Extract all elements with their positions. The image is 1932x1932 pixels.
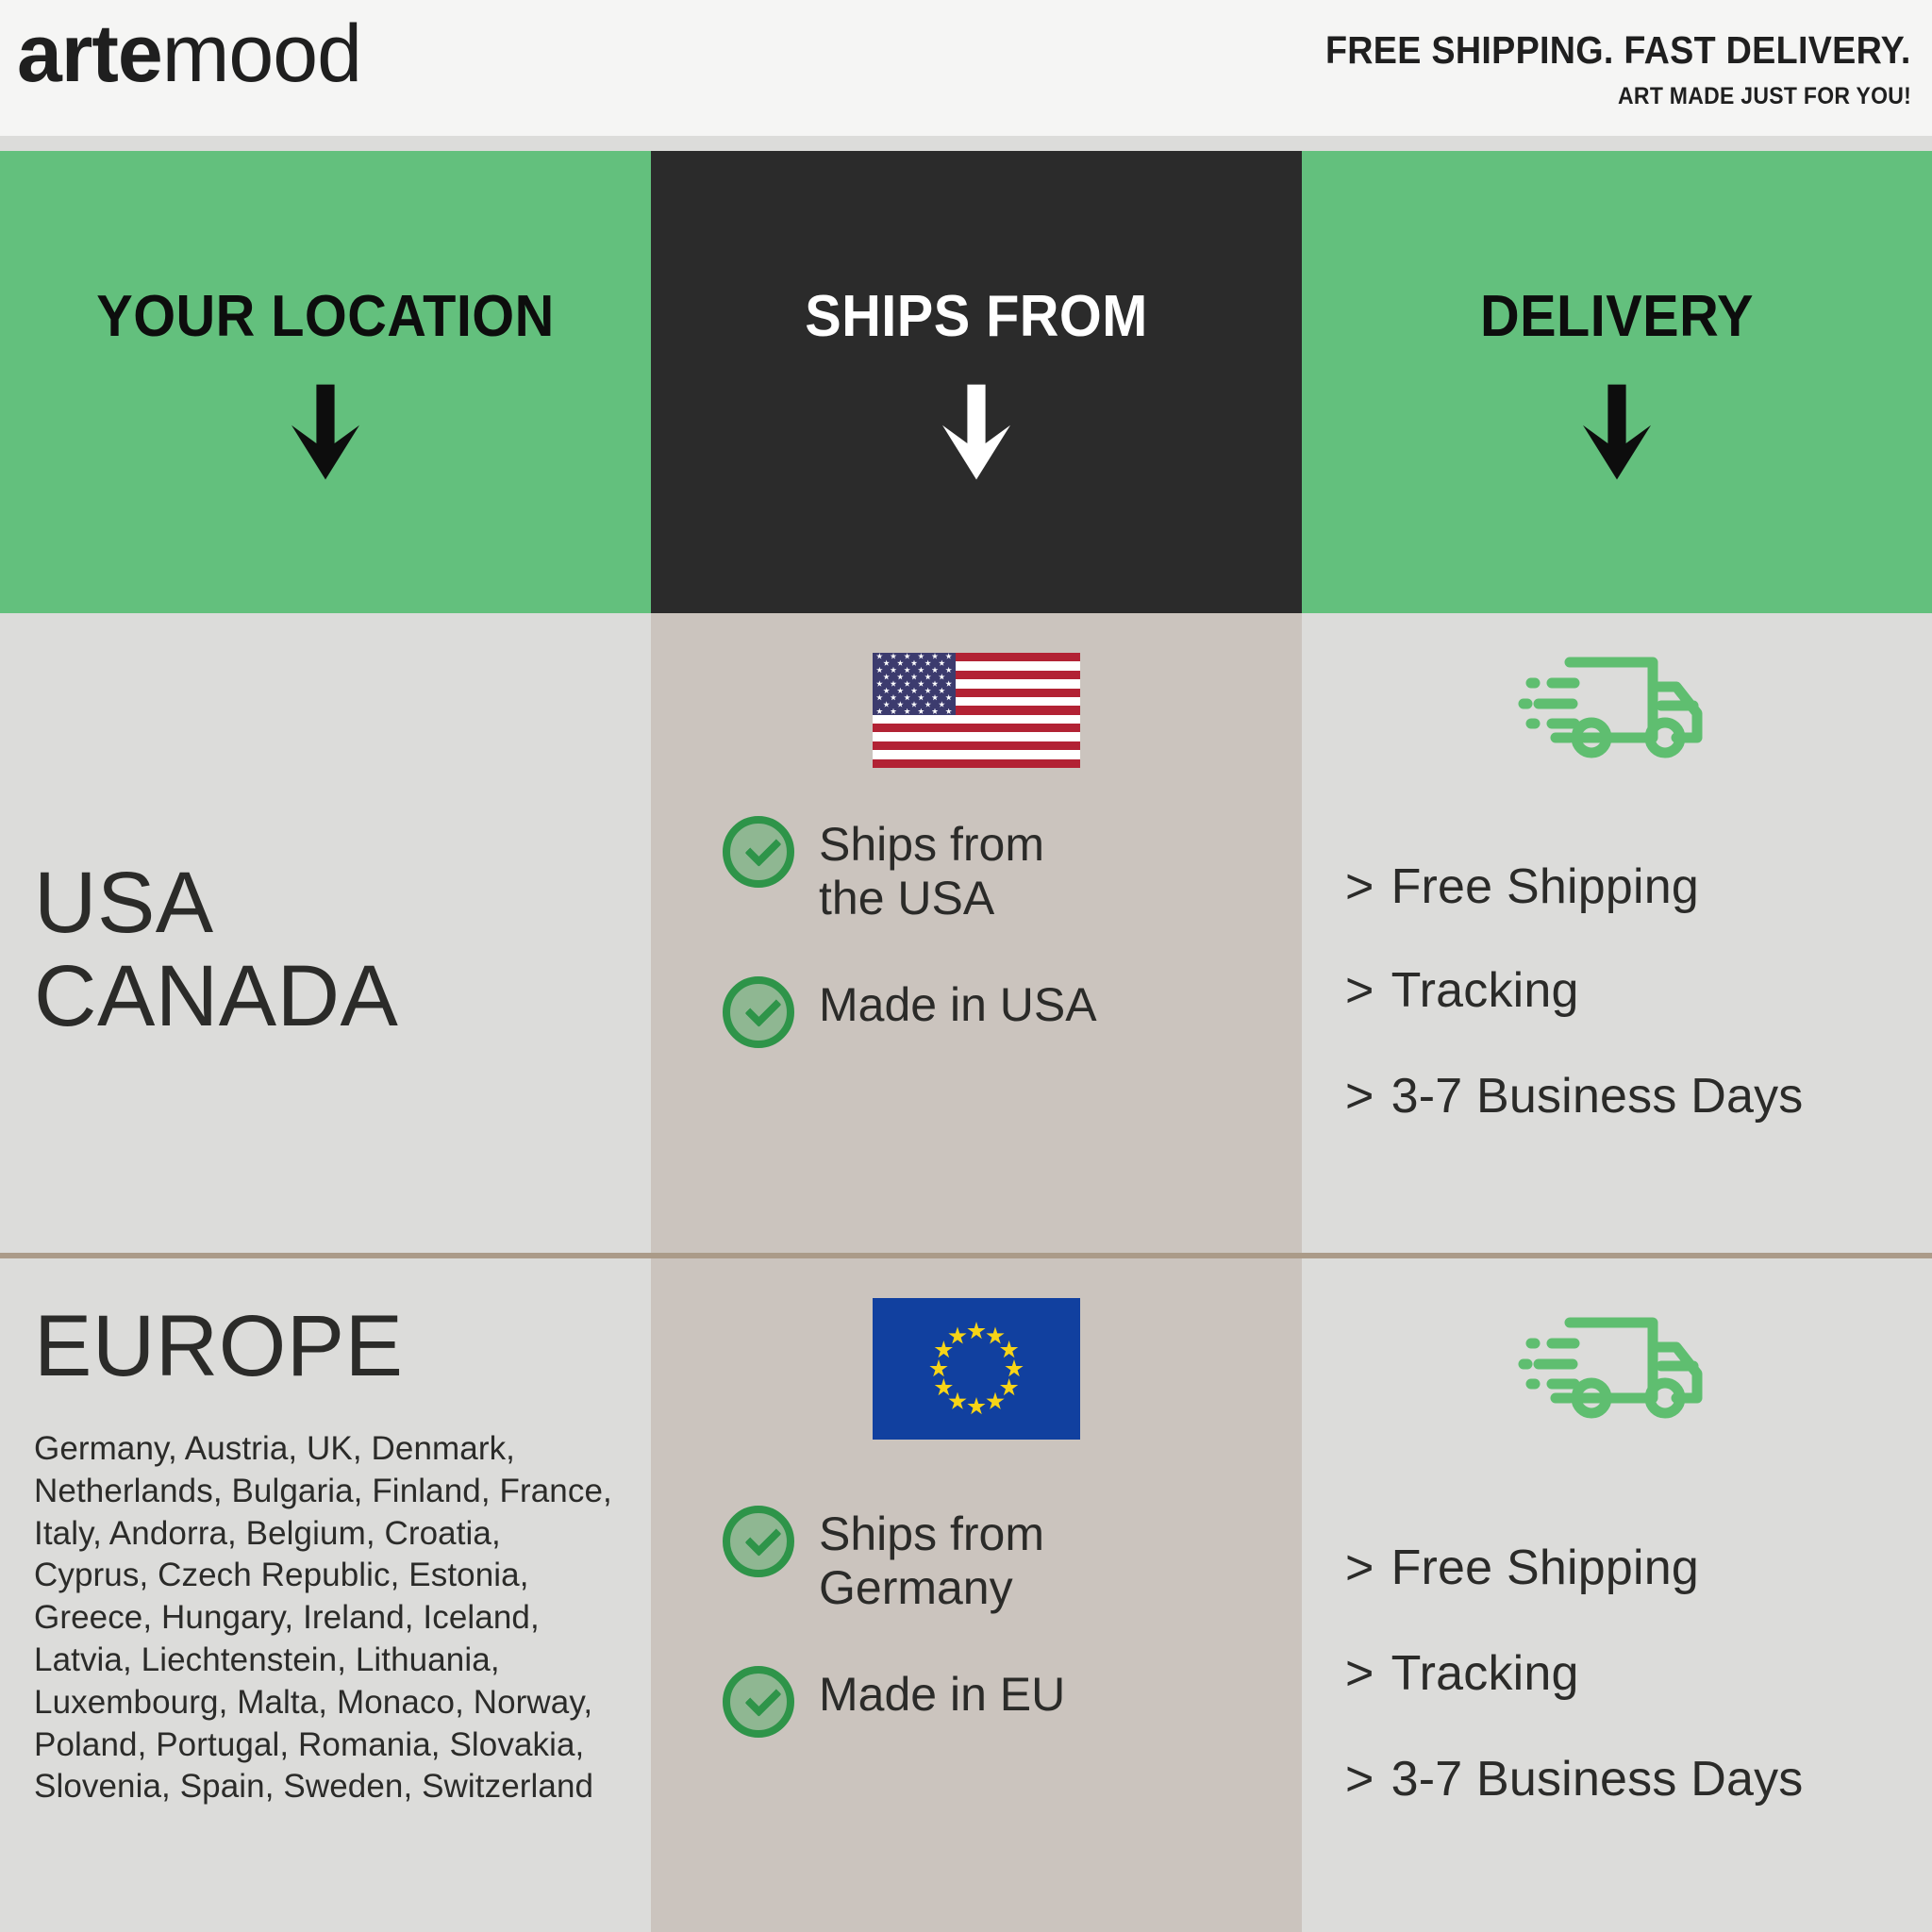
delivery-bullet-label: 3-7 Business Days — [1391, 1069, 1804, 1124]
ships-bullet-label: Ships from the USA — [819, 818, 1044, 925]
column-title-delivery: DELIVERY — [1324, 283, 1909, 350]
down-arrow-icon — [269, 375, 382, 493]
chevron-right-icon: > — [1345, 962, 1374, 1019]
delivery-bullet: >Tracking — [1345, 962, 1579, 1019]
ships-from-cell-europe: Ships from Germany Made in EU — [651, 1258, 1302, 1932]
location-cell-usa: USA CANADA — [0, 613, 651, 1253]
check-circle-icon — [723, 816, 794, 888]
column-header-delivery: DELIVERY — [1302, 151, 1932, 613]
column-title-ships-from: SHIPS FROM — [674, 283, 1279, 350]
check-circle-icon — [723, 1666, 794, 1738]
region-title-europe: EUROPE — [34, 1300, 404, 1393]
ships-bullet: Ships from the USA — [723, 816, 1044, 925]
delivery-cell-europe: >Free Shipping >Tracking >3-7 Business D… — [1302, 1258, 1932, 1932]
location-cell-europe: EUROPE Germany, Austria, UK, Denmark, Ne… — [0, 1258, 651, 1932]
delivery-bullet: >3-7 Business Days — [1345, 1751, 1804, 1807]
chevron-right-icon: > — [1345, 1068, 1374, 1124]
chevron-right-icon: > — [1345, 858, 1374, 915]
logo-bold-part: arte — [17, 8, 162, 99]
column-header-your-location: YOUR LOCATION — [0, 151, 651, 613]
page-header: artemood FREE SHIPPING. FAST DELIVERY. A… — [0, 0, 1932, 143]
country-list: Germany, Austria, UK, Denmark, Netherlan… — [34, 1428, 619, 1808]
delivery-bullet-label: Tracking — [1391, 1646, 1579, 1701]
chevron-right-icon: > — [1345, 1645, 1374, 1702]
ships-bullet: Made in USA — [723, 976, 1097, 1048]
ships-from-cell-usa: Ships from the USA Made in USA — [651, 613, 1302, 1253]
brand-logo[interactable]: artemood — [17, 13, 361, 94]
check-circle-icon — [723, 976, 794, 1048]
ships-bullet-label: Made in EU — [819, 1668, 1065, 1722]
down-arrow-icon — [1560, 375, 1674, 493]
eu-flag-icon — [873, 1298, 1080, 1440]
chevron-right-icon: > — [1345, 1540, 1374, 1596]
delivery-bullet: >Free Shipping — [1345, 1540, 1699, 1596]
column-title-your-location: YOUR LOCATION — [23, 283, 628, 350]
ships-bullet: Ships from Germany — [723, 1506, 1044, 1615]
delivery-bullet-label: Tracking — [1391, 963, 1579, 1018]
delivery-bullet-label: Free Shipping — [1391, 859, 1699, 914]
column-header-ships-from: SHIPS FROM — [651, 151, 1302, 613]
delivery-cell-usa: >Free Shipping >Tracking >3-7 Business D… — [1302, 613, 1932, 1253]
delivery-bullet: >Tracking — [1345, 1645, 1579, 1702]
down-arrow-icon — [920, 375, 1033, 493]
ships-bullet: Made in EU — [723, 1666, 1065, 1738]
delivery-bullet: >3-7 Business Days — [1345, 1068, 1804, 1124]
delivery-bullet-label: Free Shipping — [1391, 1541, 1699, 1595]
delivery-truck-icon — [1518, 647, 1716, 774]
ships-bullet-label: Made in USA — [819, 978, 1097, 1032]
ships-bullet-label: Ships from Germany — [819, 1507, 1044, 1615]
us-flag-icon — [873, 653, 1080, 768]
delivery-truck-icon — [1518, 1307, 1716, 1435]
logo-light-part: mood — [162, 8, 361, 99]
region-title-usa: USA CANADA — [34, 857, 398, 1044]
delivery-bullet-label: 3-7 Business Days — [1391, 1752, 1804, 1807]
tagline-secondary: ART MADE JUST FOR YOU! — [1618, 83, 1911, 110]
delivery-bullet: >Free Shipping — [1345, 858, 1699, 915]
tagline-primary: FREE SHIPPING. FAST DELIVERY. — [1325, 28, 1911, 73]
chevron-right-icon: > — [1345, 1751, 1374, 1807]
check-circle-icon — [723, 1506, 794, 1577]
